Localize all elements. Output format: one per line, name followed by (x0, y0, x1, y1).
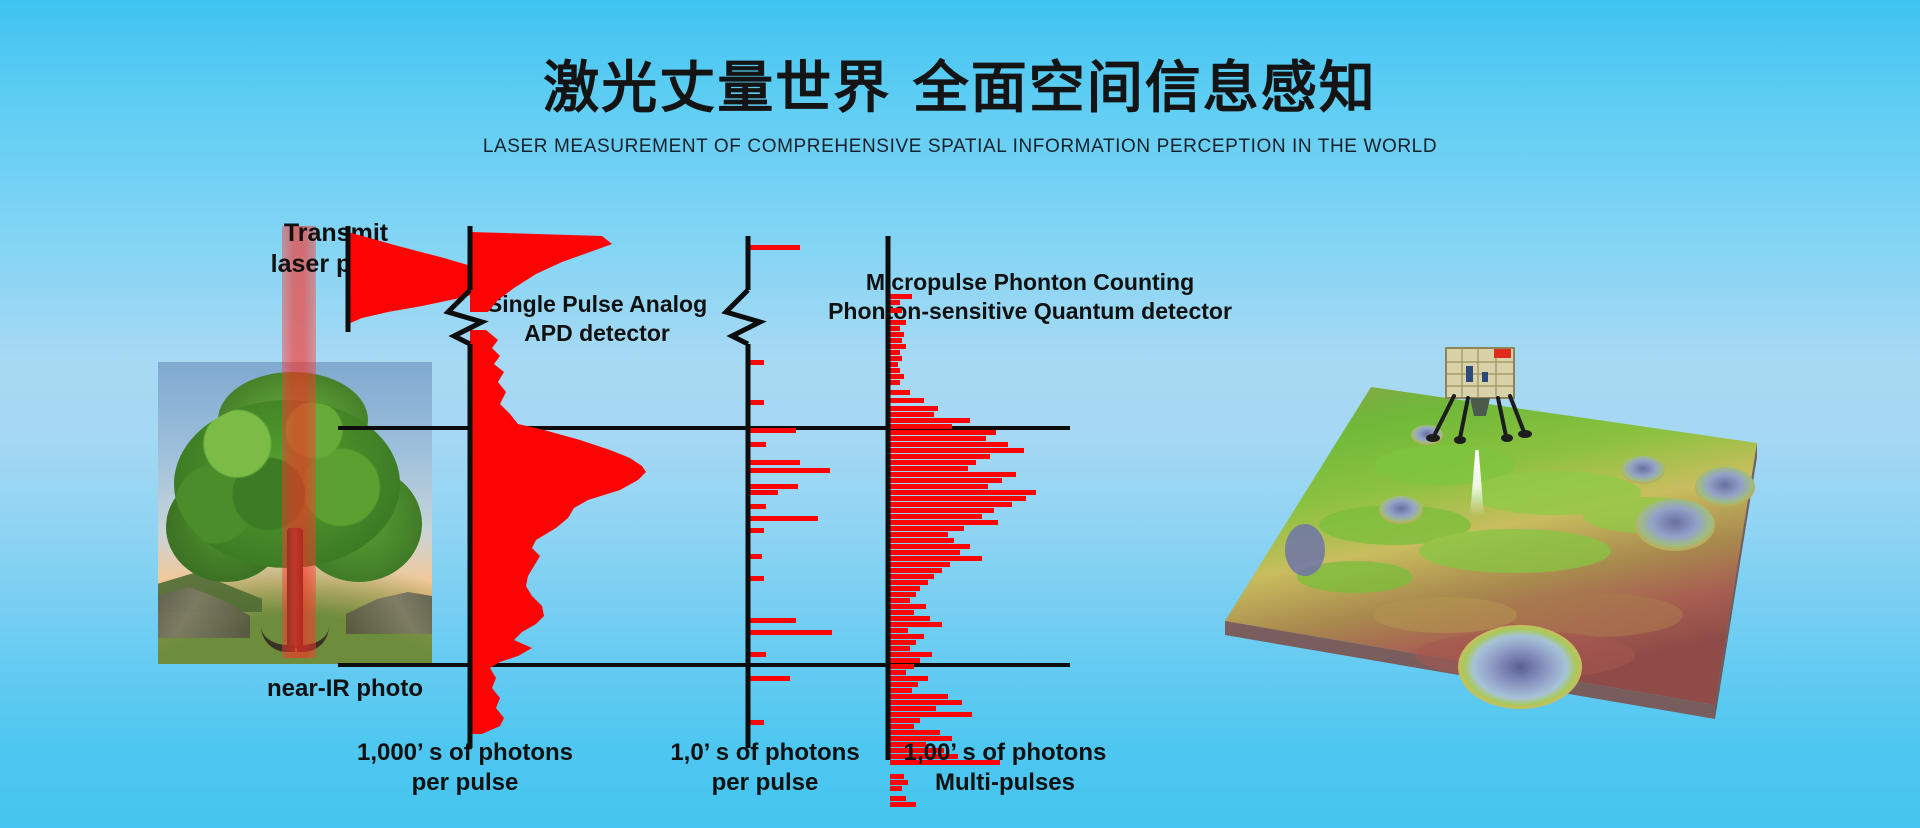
micropulse-tick (890, 550, 960, 555)
micropulse-tick (890, 460, 976, 465)
micropulse-tick (890, 436, 986, 441)
micropulse-tick (890, 338, 902, 343)
micropulse-tick (890, 350, 900, 355)
waveform-plot (330, 215, 1150, 828)
axis-caption-1-line2: per pulse (315, 768, 615, 798)
micropulse-tick (890, 520, 998, 525)
micropulse-tick (890, 706, 936, 711)
low-count-tick (750, 400, 764, 405)
micropulse-tick (890, 562, 950, 567)
micropulse-tick (890, 670, 906, 675)
lander-feet (1426, 430, 1532, 444)
micropulse-tick (890, 724, 914, 729)
low-count-tick (750, 360, 764, 365)
micropulse-tick (890, 398, 924, 403)
low-count-axis-break-icon (726, 290, 760, 344)
low-count-ticks (750, 245, 832, 725)
crater-large-front (1458, 625, 1582, 709)
low-count-tick (750, 504, 766, 509)
micropulse-tick (890, 598, 910, 603)
lander-instrument-2 (1482, 372, 1488, 382)
micropulse-tick (890, 616, 930, 621)
micropulse-tick (890, 514, 982, 519)
low-count-tick (750, 676, 790, 681)
crater-right-2 (1695, 467, 1755, 507)
micropulse-tick (890, 406, 938, 411)
micropulse-tick (890, 454, 990, 459)
low-count-tick (750, 490, 778, 495)
micropulse-tick (890, 448, 1024, 453)
micropulse-tick (890, 574, 934, 579)
micropulse-tick (890, 368, 900, 373)
micropulse-tick (890, 532, 948, 537)
apd-waveform (470, 232, 646, 734)
micropulse-tick (890, 688, 912, 693)
micropulse-tick (890, 344, 906, 349)
low-count-tick (750, 576, 764, 581)
micropulse-tick (890, 294, 912, 299)
low-count-tick (750, 428, 796, 433)
micropulse-tick (890, 356, 902, 361)
micropulse-tick (890, 484, 988, 489)
micropulse-tick (890, 586, 920, 591)
micropulse-tick (890, 380, 900, 385)
micropulse-tick (890, 592, 916, 597)
micropulse-tick (890, 658, 920, 663)
micropulse-ticks (890, 294, 1036, 807)
micropulse-tick (890, 622, 942, 627)
micropulse-tick (890, 526, 964, 531)
micropulse-tick (890, 634, 924, 639)
micropulse-tick (890, 544, 970, 549)
micropulse-tick (890, 466, 968, 471)
micropulse-tick (890, 490, 1036, 495)
header: 激光丈量世界 全面空间信息感知 LASER MEASUREMENT OF COM… (0, 0, 1920, 158)
micropulse-tick (890, 640, 916, 645)
micropulse-tick (890, 568, 942, 573)
page-subtitle: LASER MEASUREMENT OF COMPREHENSIVE SPATI… (0, 136, 1920, 158)
axis-caption-1: 1,000’ s of photons per pulse (315, 738, 615, 798)
lunar-lander (1420, 340, 1540, 460)
micropulse-tick (890, 628, 908, 633)
low-count-tick (750, 245, 800, 250)
micropulse-tick (890, 802, 916, 807)
micropulse-tick (890, 646, 910, 651)
micropulse-tick (890, 712, 972, 717)
low-count-tick (750, 528, 764, 533)
micropulse-tick (890, 700, 962, 705)
micropulse-tick (890, 442, 1008, 447)
micropulse-tick (890, 664, 914, 669)
low-count-tick (750, 554, 762, 559)
crater-right-3 (1621, 456, 1665, 484)
micropulse-tick (890, 430, 996, 435)
micropulse-tick (890, 694, 948, 699)
micropulse-tick (890, 472, 1016, 477)
micropulse-tick (890, 300, 900, 305)
micropulse-tick (890, 508, 994, 513)
laser-beam (282, 226, 316, 658)
axis-caption-3-line1: 1,00’ s of photons (860, 738, 1150, 768)
micropulse-tick (890, 604, 926, 609)
low-count-tick (750, 484, 798, 489)
micropulse-tick (890, 580, 928, 585)
micropulse-tick (890, 418, 970, 423)
low-count-tick (750, 516, 818, 521)
low-count-tick (750, 468, 830, 473)
lander-instrument-1 (1466, 366, 1473, 382)
micropulse-tick (890, 538, 954, 543)
axis-caption-1-line1: 1,000’ s of photons (315, 738, 615, 768)
crater-mid (1379, 496, 1423, 524)
micropulse-tick (890, 496, 1026, 501)
micropulse-tick (890, 502, 1012, 507)
micropulse-tick (890, 730, 940, 735)
micropulse-tick (890, 652, 932, 657)
micropulse-tick (890, 308, 902, 313)
banner-stage: 激光丈量世界 全面空间信息感知 LASER MEASUREMENT OF COM… (0, 0, 1920, 828)
micropulse-tick (890, 610, 914, 615)
lander-flag (1494, 349, 1511, 358)
low-count-tick (750, 630, 832, 635)
micropulse-tick (890, 390, 910, 395)
axis-caption-3-line2: Multi-pulses (860, 768, 1150, 798)
micropulse-tick (890, 424, 952, 429)
micropulse-tick (890, 682, 918, 687)
micropulse-tick (890, 412, 934, 417)
micropulse-tick (890, 718, 920, 723)
low-count-tick (750, 720, 764, 725)
micropulse-tick (890, 556, 982, 561)
axis-caption-3: 1,00’ s of photons Multi-pulses (860, 738, 1150, 798)
low-count-tick (750, 460, 800, 465)
micropulse-tick (890, 374, 904, 379)
page-title: 激光丈量世界 全面空间信息感知 (0, 58, 1920, 120)
crater-right-1 (1635, 499, 1715, 551)
micropulse-tick (890, 326, 900, 331)
micropulse-tick (890, 362, 898, 367)
crater-left (1285, 524, 1325, 576)
lander-nozzle (1470, 398, 1490, 416)
micropulse-tick (890, 676, 928, 681)
micropulse-tick (890, 320, 906, 325)
low-count-tick (750, 618, 796, 623)
micropulse-tick (890, 332, 904, 337)
low-count-tick (750, 652, 766, 657)
low-count-tick (750, 442, 766, 447)
micropulse-tick (890, 478, 1002, 483)
